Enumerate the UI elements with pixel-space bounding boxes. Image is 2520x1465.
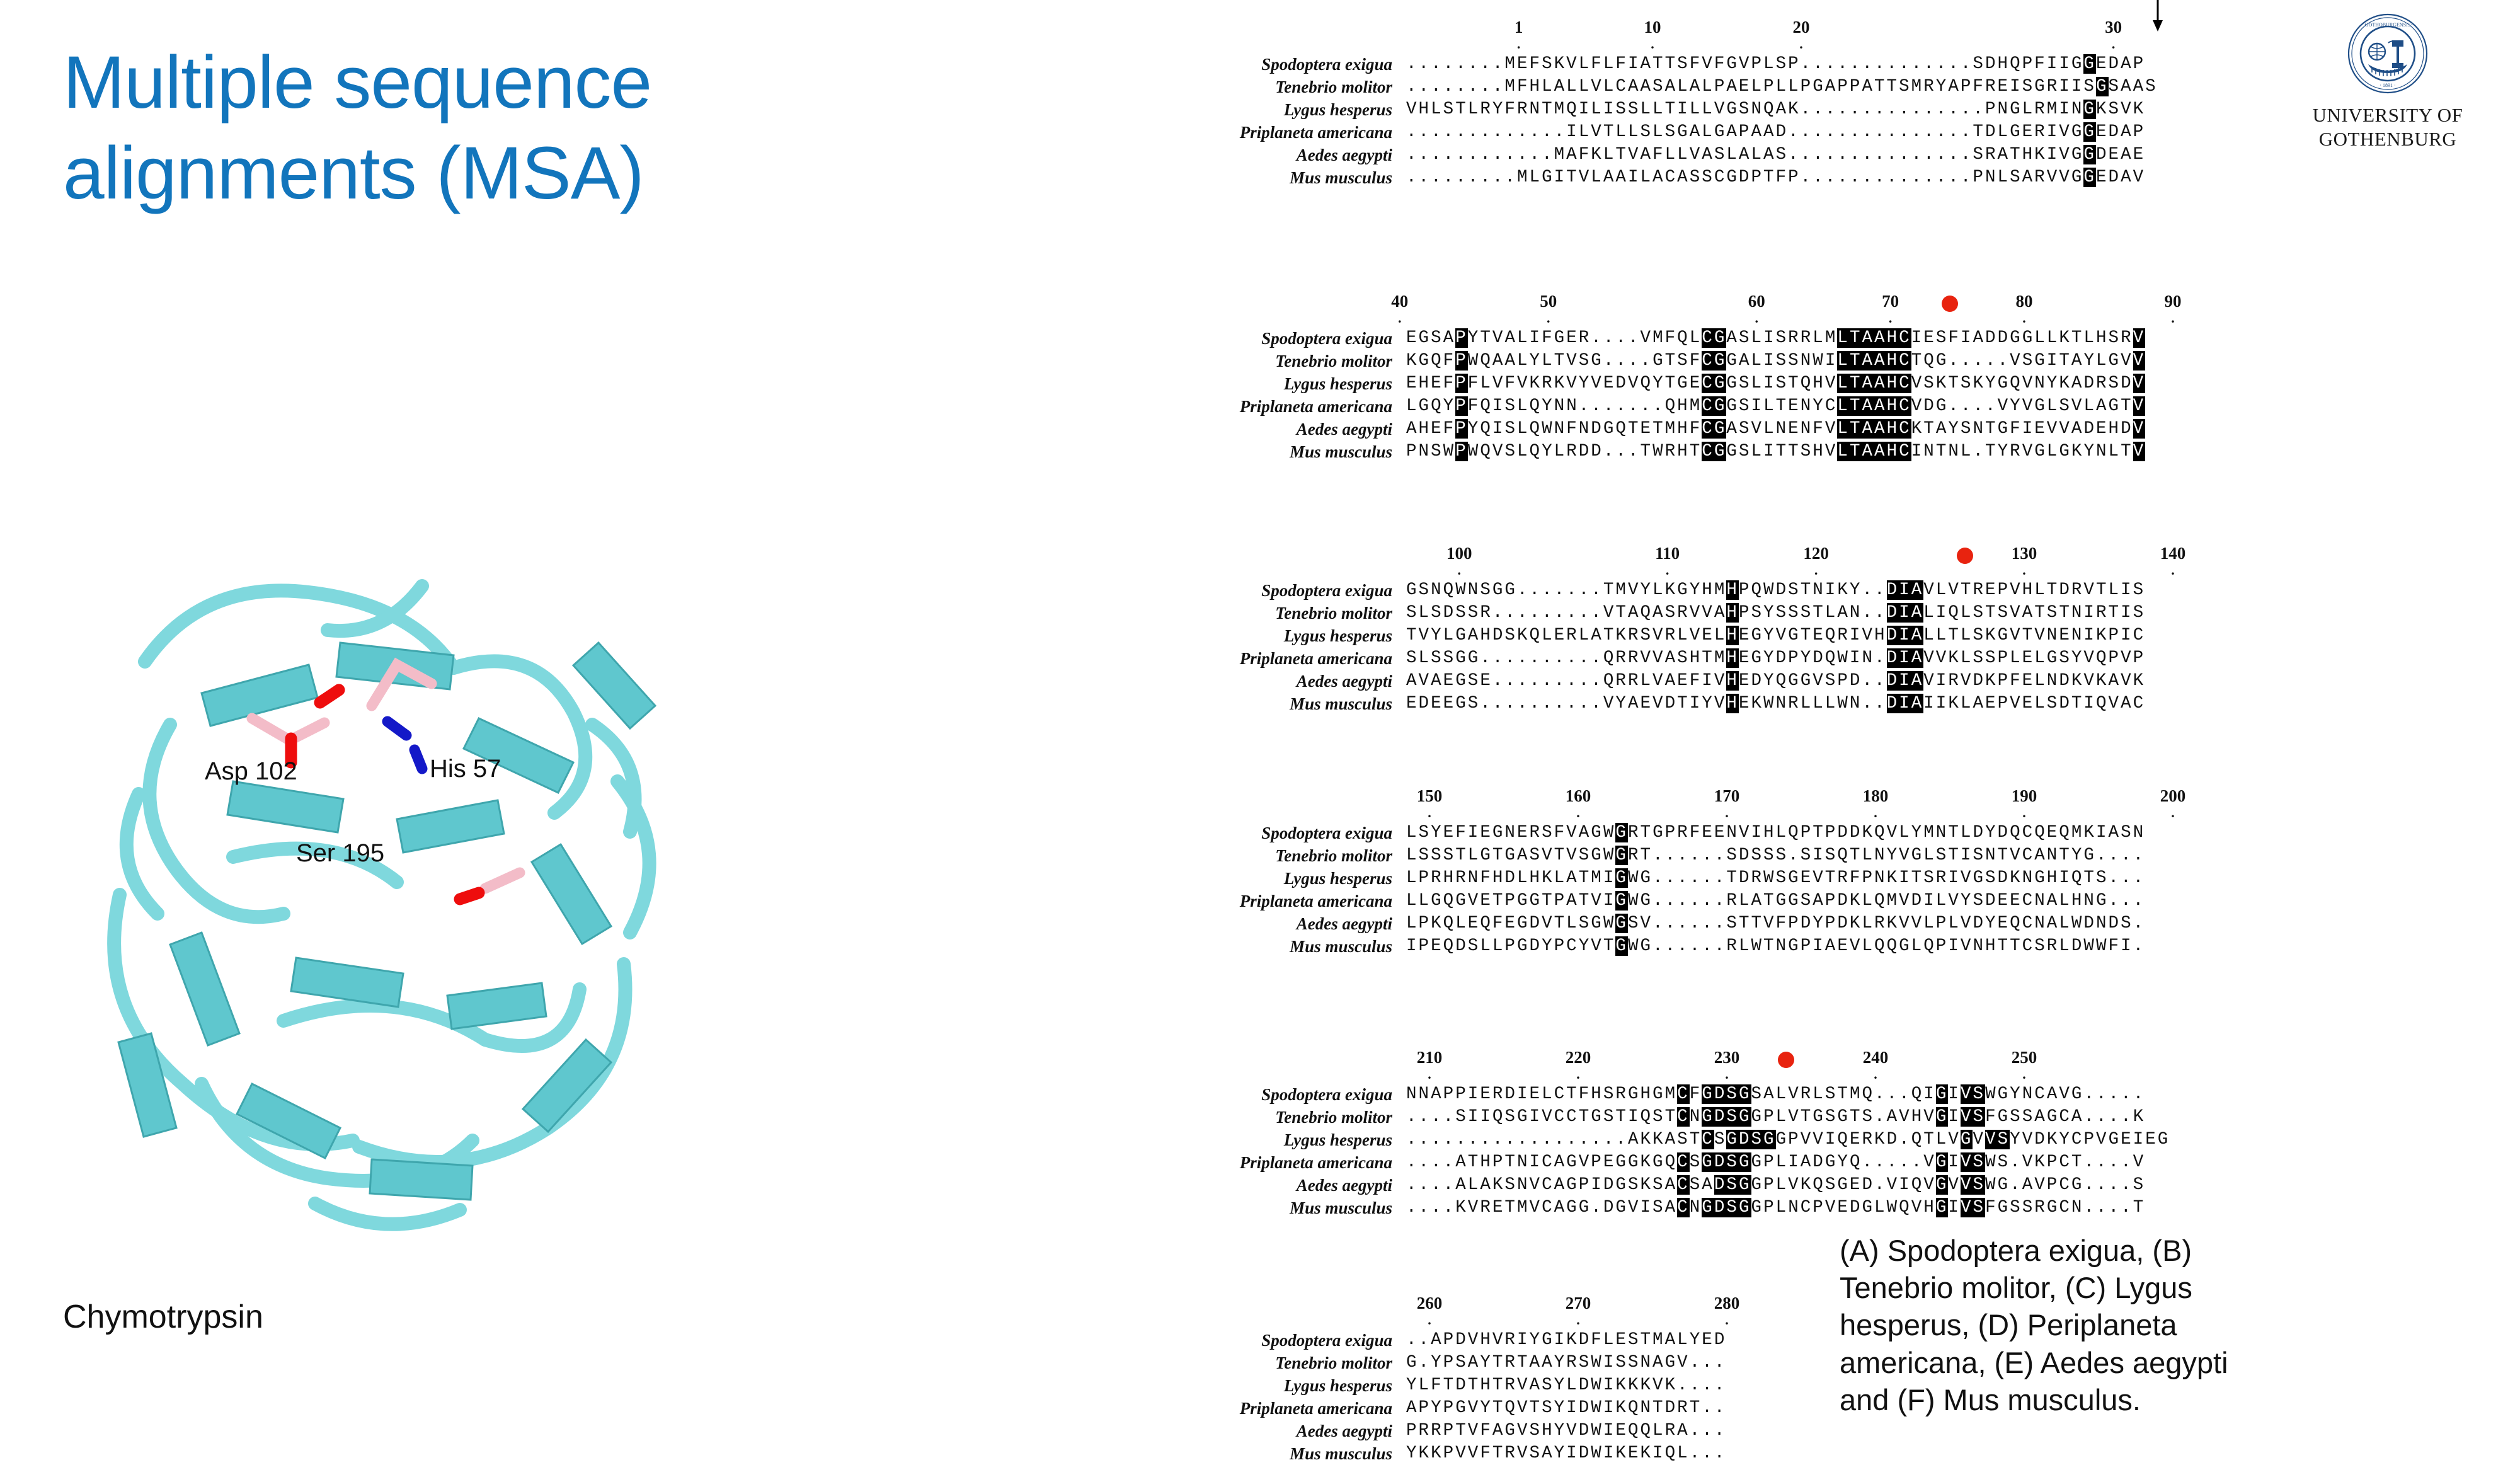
- university-name-line1: UNIVERSITY OF: [2293, 103, 2482, 127]
- msa-row: Spodoptera exiguaNNAPPIERDIELCTFHSRGHGMC…: [1184, 1083, 2318, 1106]
- residue-label-his57: His 57: [430, 755, 501, 783]
- msa-species-name: Aedes aegypti: [1184, 914, 1406, 934]
- msa-row: Priplaneta americanaLGQYPFQISLQYNN......…: [1184, 395, 2318, 418]
- msa-sequence: SLSDSSR.........VTAQASRVVAHPSYSSSTLAN..D…: [1406, 602, 2145, 624]
- msa-sequence: PNSWPWQVSLQYLRDD...TWRHTCGGSLITTSHVLTAAH…: [1406, 440, 2145, 463]
- svg-text:· 1891 ·: · 1891 ·: [2380, 83, 2395, 88]
- msa-sequence: ....ATHPTNICAGVPEGGKGQCSGDSGGPLIADGYQ...…: [1406, 1151, 2145, 1174]
- svg-text:·GOTHOBURGENSIS·: ·GOTHOBURGENSIS·: [2363, 22, 2412, 28]
- msa-species-name: Spodoptera exigua: [1184, 1331, 1406, 1350]
- ruler-tick: 110.: [1655, 545, 1680, 577]
- ruler-tick: 60.: [1748, 293, 1765, 325]
- msa-species-name: Aedes aegypti: [1184, 672, 1406, 691]
- msa-species-name: Tenebrio molitor: [1184, 604, 1406, 623]
- msa-species-name: Aedes aegypti: [1184, 420, 1406, 439]
- msa-sequence: TVYLGAHDSKQLERLATKRSVRLVELHEGYVGTEQRIVHD…: [1406, 624, 2145, 647]
- ruler-tick: 170.: [1714, 788, 1740, 820]
- msa-sequence: KGQFPWQAALYLTVSG....GTSFCGGALISSNWILTAAH…: [1406, 350, 2145, 372]
- ruler-tick: 30.: [2105, 19, 2122, 51]
- msa-block: 1.10.20.30.Spodoptera exigua........MEFS…: [1184, 19, 2318, 189]
- msa-sequence: ..................AKKASTCSGDSGGPVVIQERKD…: [1406, 1129, 2170, 1151]
- msa-block: 210.220.230.240.250.Spodoptera exiguaNNA…: [1184, 1049, 2318, 1219]
- ruler-tick: 280.: [1714, 1295, 1740, 1327]
- ruler-tick: 70.: [1882, 293, 1899, 325]
- msa-sequence: NNAPPIERDIELCTFHSRGHGMCFGDSGSALVRLSTMQ..…: [1406, 1083, 2145, 1106]
- msa-sequence: G.YPSAYTRTAAYRSWISSNAGV...: [1406, 1352, 1726, 1374]
- university-name: UNIVERSITY OF GOTHENBURG: [2293, 103, 2482, 151]
- msa-species-name: Priplaneta americana: [1184, 1153, 1406, 1173]
- msa-sequence: ....SIIQSGIVCCTGSTIQSTCNGDSGGPLVTGSGTS.A…: [1406, 1106, 2145, 1129]
- msa-sequence: LPRHRNFHDLHKLATMIGWG......TDRWSGEVTRFPNK…: [1406, 867, 2145, 890]
- ruler-tick: 1.: [1515, 19, 1523, 51]
- msa-sequence: EHEFPFLVFVKRKVYVEDVQYTGECGGSLISTQHVLTAAH…: [1406, 372, 2145, 395]
- ruler-tick: 140.: [2160, 545, 2186, 577]
- msa-species-name: Mus musculus: [1184, 442, 1406, 462]
- msa-species-name: Tenebrio molitor: [1184, 352, 1406, 371]
- msa-sequence: .............ILVTLLSLSGALGAPAAD.........…: [1406, 121, 2145, 144]
- msa-species-name: Mus musculus: [1184, 1198, 1406, 1218]
- chymotrypsin-structure-figure: Asp 102 His 57 Ser 195: [44, 454, 813, 1292]
- protein-ribbon-diagram: [44, 454, 813, 1292]
- msa-sequence: IPEQDSLLPGDYPCYVTGWG......RLWTNGPIAEVLQQ…: [1406, 935, 2145, 958]
- msa-species-name: Priplaneta americana: [1184, 123, 1406, 142]
- msa-row: Lygus hesperus..................AKKASTCS…: [1184, 1129, 2318, 1151]
- page-title: Multiple sequence alignments (MSA): [63, 38, 1008, 219]
- msa-row: Priplaneta americana.............ILVTLLS…: [1184, 121, 2318, 144]
- msa-ruler: 100.110.120.130.140.: [1184, 545, 2318, 579]
- msa-row: Spodoptera exigua........MEFSKVLFLFIATTS…: [1184, 53, 2318, 76]
- residue-label-asp102: Asp 102: [205, 757, 297, 786]
- msa-row: Tenebrio molitor........MFHLALLVLCAASALA…: [1184, 76, 2318, 98]
- structure-caption: Chymotrypsin: [63, 1298, 263, 1336]
- msa-row: Lygus hesperusLPRHRNFHDLHKLATMIGWG......…: [1184, 867, 2318, 890]
- msa-ruler: 150.160.170.180.190.200.: [1184, 788, 2318, 822]
- msa-species-name: Mus musculus: [1184, 1444, 1406, 1464]
- catalytic-residue-marker: [1957, 548, 1973, 564]
- cleavage-site-arrow-icon: [2151, 0, 2165, 37]
- msa-row: Aedes aegyptiAHEFPYQISLQWNFNDGQTETMHFCGA…: [1184, 418, 2318, 440]
- msa-row: Mus musculusPNSWPWQVSLQYLRDD...TWRHTCGGS…: [1184, 440, 2318, 463]
- catalytic-residue-marker: [1778, 1052, 1794, 1068]
- msa-sequence: EGSAPYTVALIFGER....VMFQLCGASLISRRLMLTAAH…: [1406, 327, 2145, 350]
- msa-species-name: Tenebrio molitor: [1184, 1353, 1406, 1373]
- msa-row: Tenebrio molitor....SIIQSGIVCCTGSTIQSTCN…: [1184, 1106, 2318, 1129]
- msa-row: Lygus hesperusEHEFPFLVFVKRKVYVEDVQYTGECG…: [1184, 372, 2318, 395]
- university-seal-icon: ·GOTHOBURGENSIS· · 1891 ·: [2347, 13, 2429, 95]
- msa-row: Aedes aegyptiPRRPTVFAGVSHYVDWIEQQLRA...: [1184, 1420, 2318, 1442]
- msa-sequence: AVAEGSE.........QRRLVAEFIVHEDYQGGVSPD..D…: [1406, 670, 2145, 692]
- msa-sequence: ........MFHLALLVLCAASALALPAELPLLPGAPPATT…: [1406, 76, 2158, 98]
- ruler-tick: 130.: [2012, 545, 2037, 577]
- msa-row: Priplaneta americanaSLSSGG..........QRRV…: [1184, 647, 2318, 670]
- msa-sequence: YLFTDTHTRVASYLDWIKKKVK....: [1406, 1374, 1726, 1397]
- msa-row: Mus musculus....KVRETMVCAGG.DGVISACNGDSG…: [1184, 1197, 2318, 1219]
- ruler-tick: 40.: [1391, 293, 1408, 325]
- residue-label-ser195: Ser 195: [296, 839, 384, 868]
- msa-species-name: Priplaneta americana: [1184, 649, 1406, 669]
- ruler-tick: 10.: [1644, 19, 1661, 51]
- ruler-tick: 200.: [2160, 788, 2186, 820]
- msa-sequence: SLSSGG..........QRRVVASHTMHEGYDPYDQWIN.D…: [1406, 647, 2145, 670]
- msa-row: Spodoptera exiguaLSYEFIEGNERSFVAGWGRTGPR…: [1184, 822, 2318, 844]
- msa-row: Mus musculusEDEEGS..........VYAEVDTIYVHE…: [1184, 692, 2318, 715]
- msa-species-name: Tenebrio molitor: [1184, 846, 1406, 866]
- msa-sequence: YKKPVVFTRVSAYIDWIKEKIQL...: [1406, 1442, 1726, 1465]
- msa-species-name: Mus musculus: [1184, 168, 1406, 188]
- msa-species-name: Tenebrio molitor: [1184, 78, 1406, 97]
- msa-sequence: LPKQLEQFEGDVTLSGWGSV......STTVFPDYPDKLRK…: [1406, 912, 2145, 935]
- msa-sequence: ..APDVHVRIYGIKDFLESTMALYED: [1406, 1329, 1726, 1352]
- msa-ruler: 1.10.20.30.: [1184, 19, 2318, 53]
- msa-sequence: APYPGVYTQVTSYIDWIKQNTDRT..: [1406, 1397, 1726, 1420]
- ruler-tick: 120.: [1803, 545, 1829, 577]
- msa-sequence: ............MAFKLTVAFLLVASLALAS.........…: [1406, 144, 2145, 166]
- ruler-tick: 250.: [2012, 1049, 2037, 1081]
- msa-sequence: .........MLGITVLAAILACASSCGDPTFP........…: [1406, 166, 2145, 189]
- msa-sequence: LGQYPFQISLQYNN.......QHMCGGSILTENYCLTAAH…: [1406, 395, 2145, 418]
- msa-row: Spodoptera exiguaEGSAPYTVALIFGER....VMFQ…: [1184, 327, 2318, 350]
- ruler-tick: 270.: [1566, 1295, 1591, 1327]
- msa-species-name: Spodoptera exigua: [1184, 1085, 1406, 1105]
- msa-sequence: PRRPTVFAGVSHYVDWIEQQLRA...: [1406, 1420, 1726, 1442]
- msa-species-name: Spodoptera exigua: [1184, 824, 1406, 843]
- ruler-tick: 160.: [1566, 788, 1591, 820]
- msa-row: Aedes aegyptiAVAEGSE.........QRRLVAEFIVH…: [1184, 670, 2318, 692]
- msa-species-name: Aedes aegypti: [1184, 1422, 1406, 1441]
- ruler-tick: 230.: [1714, 1049, 1740, 1081]
- msa-sequence: LSYEFIEGNERSFVAGWGRTGPRFEENVIHLQPTPDDKQV…: [1406, 822, 2145, 844]
- msa-sequence: EDEEGS..........VYAEVDTIYVHEKWNRLLLWN..D…: [1406, 692, 2145, 715]
- msa-species-name: Priplaneta americana: [1184, 397, 1406, 417]
- msa-species-name: Spodoptera exigua: [1184, 329, 1406, 348]
- msa-row: Aedes aegyptiLPKQLEQFEGDVTLSGWGSV......S…: [1184, 912, 2318, 935]
- ruler-tick: 260.: [1417, 1295, 1443, 1327]
- msa-row: Tenebrio molitorKGQFPWQAALYLTVSG....GTSF…: [1184, 350, 2318, 372]
- msa-block: 150.160.170.180.190.200.Spodoptera exigu…: [1184, 788, 2318, 958]
- msa-sequence: ........MEFSKVLFLFIATTSFVFGVPLSP........…: [1406, 53, 2145, 76]
- msa-species-name: Lygus hesperus: [1184, 1376, 1406, 1396]
- msa-species-name: Spodoptera exigua: [1184, 55, 1406, 74]
- msa-row: Mus musculusIPEQDSLLPGDYPCYVTGWG......RL…: [1184, 935, 2318, 958]
- msa-sequence: VHLSTLRYFRNTMQILISSLLTILLVGSNQAK........…: [1406, 98, 2145, 121]
- ruler-tick: 80.: [2016, 293, 2033, 325]
- ruler-tick: 20.: [1793, 19, 1810, 51]
- msa-ruler: 210.220.230.240.250.: [1184, 1049, 2318, 1083]
- ruler-tick: 50.: [1540, 293, 1557, 325]
- msa-sequence: LSSSTLGTGASVTVSGWGRT......SDSSS.SISQTLNY…: [1406, 844, 2145, 867]
- msa-row: Tenebrio molitorLSSSTLGTGASVTVSGWGRT....…: [1184, 844, 2318, 867]
- msa-species-name: Tenebrio molitor: [1184, 1108, 1406, 1127]
- msa-row: Spodoptera exiguaGSNQWNSGG.......TMVYLKG…: [1184, 579, 2318, 602]
- ruler-tick: 100.: [1446, 545, 1472, 577]
- msa-species-name: Lygus hesperus: [1184, 374, 1406, 394]
- msa-block: 100.110.120.130.140.Spodoptera exiguaGSN…: [1184, 545, 2318, 715]
- msa-species-name: Priplaneta americana: [1184, 1399, 1406, 1418]
- msa-row: Aedes aegypti....ALAKSNVCAGPIDGSKSACSADS…: [1184, 1174, 2318, 1197]
- ruler-tick: 190.: [2012, 788, 2037, 820]
- msa-row: Mus musculus.........MLGITVLAAILACASSCGD…: [1184, 166, 2318, 189]
- ruler-tick: 150.: [1417, 788, 1443, 820]
- msa-species-name: Lygus hesperus: [1184, 1130, 1406, 1150]
- msa-ruler: 40.50.60.70.80.90.: [1184, 293, 2318, 327]
- msa-species-name: Aedes aegypti: [1184, 1176, 1406, 1195]
- msa-row: Lygus hesperusTVYLGAHDSKQLERLATKRSVRLVEL…: [1184, 624, 2318, 647]
- msa-block: 40.50.60.70.80.90.Spodoptera exiguaEGSAP…: [1184, 293, 2318, 463]
- msa-species-name: Mus musculus: [1184, 694, 1406, 714]
- catalytic-residue-marker: [1942, 296, 1958, 312]
- university-logo: ·GOTHOBURGENSIS· · 1891 · UNIVERSITY OF …: [2293, 13, 2482, 151]
- msa-sequence: LLGQGVETPGGTPATVIGWG......RLATGGSAPDKLQM…: [1406, 890, 2145, 912]
- msa-row: Lygus hesperusVHLSTLRYFRNTMQILISSLLTILLV…: [1184, 98, 2318, 121]
- msa-sequence: AHEFPYQISLQWNFNDGQTETMHFCGASVLNENFVLTAAH…: [1406, 418, 2145, 440]
- msa-figure-caption: (A) Spodoptera exigua, (B) Tenebrio moli…: [1840, 1232, 2281, 1418]
- msa-row: Aedes aegypti............MAFKLTVAFLLVASL…: [1184, 144, 2318, 166]
- msa-species-name: Spodoptera exigua: [1184, 581, 1406, 600]
- msa-species-name: Priplaneta americana: [1184, 892, 1406, 911]
- ruler-tick: 240.: [1863, 1049, 1889, 1081]
- university-name-line2: GOTHENBURG: [2293, 127, 2482, 151]
- ruler-tick: 220.: [1566, 1049, 1591, 1081]
- msa-species-name: Aedes aegypti: [1184, 146, 1406, 165]
- msa-row: Priplaneta americana....ATHPTNICAGVPEGGK…: [1184, 1151, 2318, 1174]
- msa-sequence: ....ALAKSNVCAGPIDGSKSACSADSGGPLVKQSGED.V…: [1406, 1174, 2145, 1197]
- msa-row: Priplaneta americanaLLGQGVETPGGTPATVIGWG…: [1184, 890, 2318, 912]
- msa-alignment-figure: 1.10.20.30.Spodoptera exigua........MEFS…: [1184, 0, 2318, 1418]
- ruler-tick: 180.: [1863, 788, 1889, 820]
- msa-row: Mus musculusYKKPVVFTRVSAYIDWIKEKIQL...: [1184, 1442, 2318, 1465]
- msa-sequence: GSNQWNSGG.......TMVYLKGYHMHPQWDSTNIKY..D…: [1406, 579, 2145, 602]
- msa-species-name: Lygus hesperus: [1184, 869, 1406, 888]
- msa-row: Tenebrio molitorSLSDSSR.........VTAQASRV…: [1184, 602, 2318, 624]
- msa-species-name: Lygus hesperus: [1184, 626, 1406, 646]
- ruler-tick: 210.: [1417, 1049, 1443, 1081]
- msa-sequence: ....KVRETMVCAGG.DGVISACNGDSGGPLNCPVEDGLW…: [1406, 1197, 2145, 1219]
- ruler-tick: 90.: [2165, 293, 2182, 325]
- msa-species-name: Mus musculus: [1184, 937, 1406, 957]
- msa-species-name: Lygus hesperus: [1184, 100, 1406, 120]
